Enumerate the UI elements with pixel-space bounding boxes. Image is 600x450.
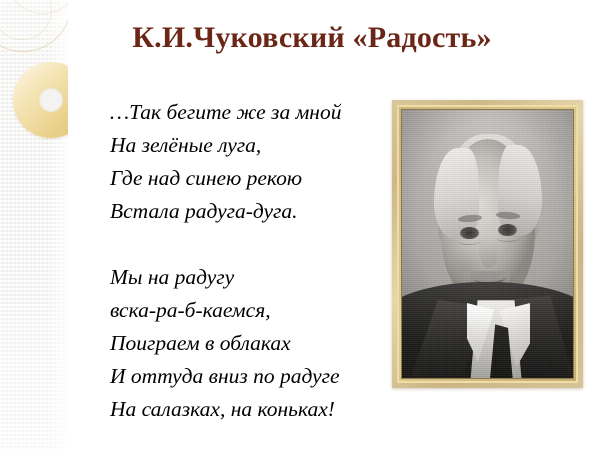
poem-line: На зелёные луга, — [110, 129, 440, 162]
poem-line: Поиграем в облаках — [110, 327, 440, 360]
poem-line: На салазках, на коньках! — [110, 393, 440, 426]
poem-text: …Так бегите же за мной На зелёные луга, … — [110, 96, 440, 426]
poem-stanza-1: …Так бегите же за мной На зелёные луга, … — [110, 96, 440, 228]
poem-line: …Так бегите же за мной — [110, 96, 440, 129]
portrait-frame-inner-edge — [401, 109, 574, 379]
poem-line: Где над синею рекою — [110, 162, 440, 195]
gold-ring-icon — [13, 62, 68, 138]
poem-line: вска-ра-б-каемся, — [110, 294, 440, 327]
portrait-photo — [402, 110, 573, 378]
slide-canvas: К.И.Чуковский «Радость» …Так бегите же з… — [0, 0, 600, 450]
poem-line: Мы на радугу — [110, 261, 440, 294]
portrait-frame-gold-inlay — [397, 105, 578, 383]
poem-line: И оттуда вниз по радуге — [110, 360, 440, 393]
poem-stanza-2: Мы на радугу вска-ра-б-каемся, Поиграем … — [110, 261, 440, 426]
stanza-gap — [110, 228, 440, 261]
portrait-frame — [392, 100, 583, 388]
photo-grain — [402, 110, 573, 378]
poem-line: Встала радуга-дуга. — [110, 195, 440, 228]
page-title: К.И.Чуковский «Радость» — [82, 20, 542, 56]
left-decorative-band — [0, 0, 68, 450]
